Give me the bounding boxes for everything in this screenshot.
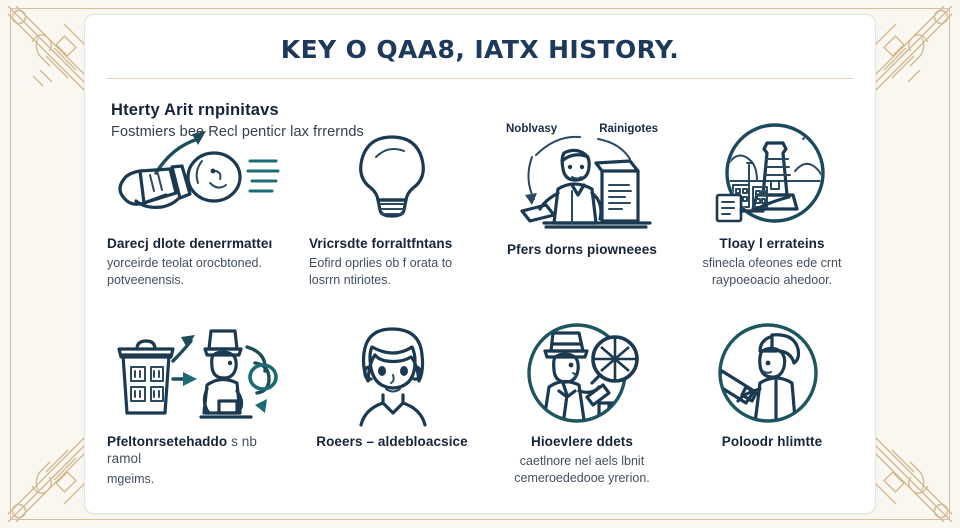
caption-4-body: sfinecla ofeones ede crnt raypoeoacio ah… [689,255,855,289]
caption-3: Pfers dorns piowneees [499,241,665,258]
caption-7-title: Hioevlere ddets [499,433,665,450]
caption-1: Darecj dlote denerrmatteı yorceirde teol… [107,235,285,289]
caption-7-body: caetlnore nel aels lbnit cemeroededooe y… [499,453,665,487]
caption-8: Poloodr hlimtte [689,433,855,450]
icon-grid: Darecj dlote denerrmatteı yorceirde teol… [95,119,867,514]
caption-1-body: yorceirde teolat orocbtoned. potveenensi… [107,255,285,289]
caption-6: Roeers – aldebloacsice [309,433,475,450]
lightbulb-outline-icon [309,123,475,231]
page-title: KEY O QAA8, IATX HISTORY. [85,35,875,64]
grid-cell-6: Roeers – aldebloacsice [297,317,487,514]
infographic-card: KEY O QAA8, IATX HISTORY. Hterty Arit rn… [84,14,876,514]
caption-2-body: Eofird oprlies ob f orata to losrrn ntir… [309,255,475,289]
caption-2-title: Vricrsdte forraltfntans [309,235,475,252]
caption-5-body: mgeims. [107,471,285,488]
flashlight-lightbulb-arrow-icon [107,123,285,231]
caption-4-title: Tloay l errateins [689,235,855,252]
caption-6-title: Roeers – aldebloacsice [309,433,475,450]
grid-cell-4: Tloay l errateins sfinecla ofeones ede c… [677,119,867,317]
icon-3-label-left: Noblvasy [506,123,557,135]
caption-7: Hioevlere ddets caetlnore nel aels lbnit… [499,433,665,487]
case-to-person-arrows-icon [107,321,285,429]
grid-cell-3: Noblvasy Rainigotes [487,119,677,317]
title-divider [107,78,853,79]
caption-8-title: Poloodr hlimtte [689,433,855,450]
caption-5: Pfeltonrsetehaddo s nb ramol mgeims. [107,433,285,487]
presenter-at-board-icon [499,129,665,237]
caption-2: Vricrsdte forraltfntans Eofird oprlies o… [309,235,475,289]
icon-3-labels: Noblvasy Rainigotes [506,123,658,135]
grid-cell-5: Pfeltonrsetehaddo s nb ramol mgeims. [95,317,297,514]
grid-cell-2: Vricrsdte forraltfntans Eofird oprlies o… [297,119,487,317]
caption-5-title: Pfeltonrsetehaddo s nb ramol [107,433,285,468]
grid-cell-1: Darecj dlote denerrmatteı yorceirde teol… [95,119,297,317]
grid-cell-7: Hioevlere ddets caetlnore nel aels lbnit… [487,317,677,514]
detective-magnifier-circle-icon [499,321,665,429]
person-face-portrait-icon [309,321,475,429]
headline-main-text: Hterty Arit rnpinitavs [111,101,541,120]
caption-3-title: Pfers dorns piowneees [499,241,665,258]
worker-with-torch-circle-icon [689,321,855,429]
grid-cell-8: Poloodr hlimtte [677,317,867,514]
icon-3-label-right: Rainigotes [599,123,658,135]
caption-5-title-bold: Pfeltonrsetehaddo [107,434,227,449]
lighthouse-circle-badge-icon [689,123,855,231]
caption-4: Tloay l errateins sfinecla ofeones ede c… [689,235,855,289]
caption-1-title: Darecj dlote denerrmatteı [107,235,285,252]
